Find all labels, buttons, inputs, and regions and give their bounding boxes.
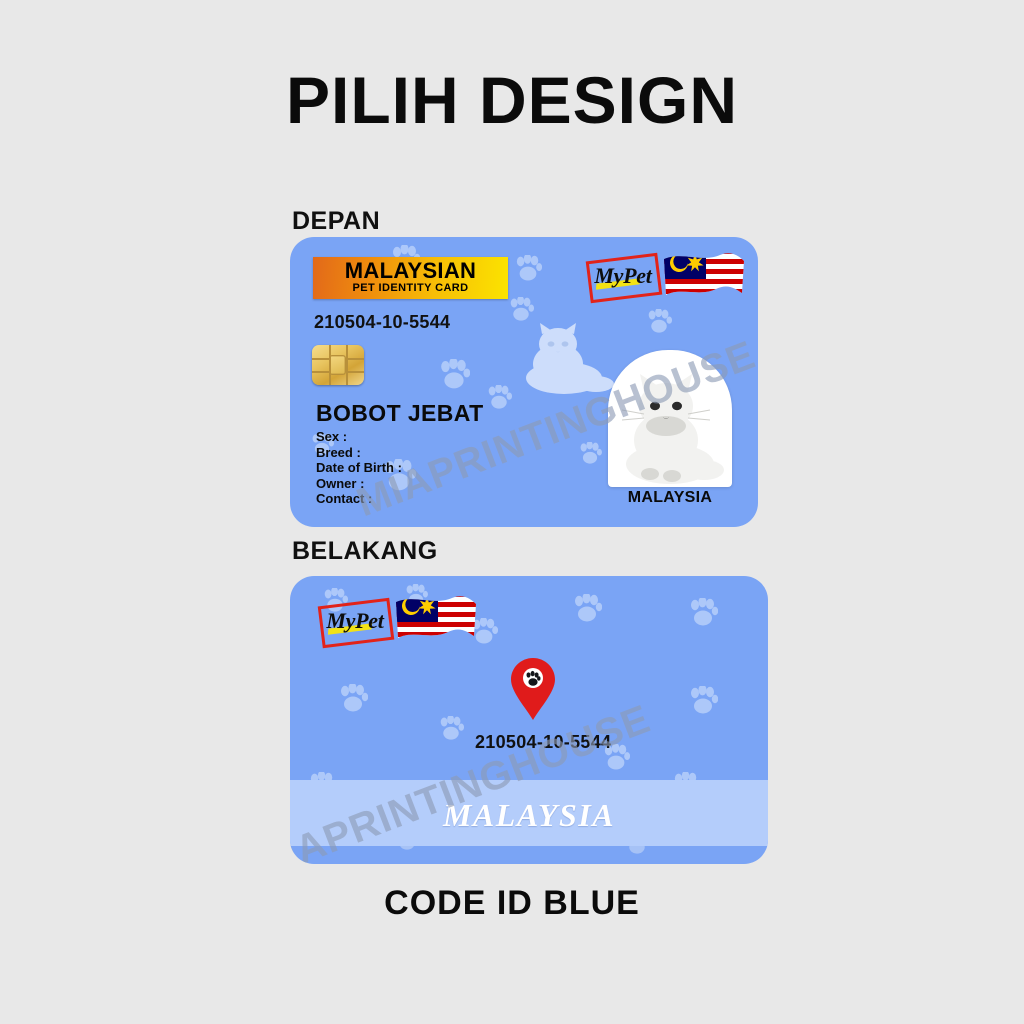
card-front-preview[interactable]: MALAYSIAN PET IDENTITY CARD 210504-10-55…	[290, 237, 758, 527]
mypet-logo-back: MyPet	[312, 598, 396, 644]
back-side-label: BELAKANG	[292, 537, 438, 566]
paw-icon	[438, 716, 464, 740]
persian-cat-watermark-icon	[518, 322, 618, 397]
banner-line-1: MALAYSIAN	[313, 257, 508, 282]
paw-icon	[486, 385, 512, 409]
banner-line-2: PET IDENTITY CARD	[313, 282, 508, 295]
front-side-label: DEPAN	[292, 207, 380, 236]
logo-text: MyPet	[322, 608, 388, 634]
pet-photo	[608, 350, 732, 487]
band-country-text: MALAYSIA	[290, 797, 768, 834]
pet-name: BOBOT JEBAT	[316, 400, 484, 427]
map-pin-paw-icon	[509, 656, 557, 722]
emv-chip-icon	[312, 345, 364, 385]
paw-icon	[508, 297, 534, 321]
paw-icon	[438, 359, 470, 389]
design-preview-page: PILIH DESIGN DEPAN	[0, 0, 1024, 1024]
mypet-logo-front: MyPet	[580, 253, 664, 299]
field-owner: Owner :	[316, 476, 402, 492]
malaysia-flag-icon	[662, 249, 746, 307]
pet-fields-list: Sex : Breed : Date of Birth : Owner : Co…	[316, 429, 402, 507]
card-back-preview[interactable]: MyPet	[290, 576, 768, 864]
page-title: PILIH DESIGN	[0, 62, 1024, 138]
malaysia-flag-icon	[394, 592, 478, 650]
paw-icon	[514, 255, 542, 281]
paw-icon	[688, 598, 718, 626]
front-id-number: 210504-10-5544	[314, 312, 450, 333]
paw-icon	[338, 684, 368, 712]
field-date-of-birth: Date of Birth :	[316, 460, 402, 476]
paw-icon	[646, 309, 672, 333]
paw-icon	[572, 594, 602, 622]
paw-icon	[578, 442, 602, 464]
back-id-number: 210504-10-5544	[475, 732, 611, 753]
design-code-caption: CODE ID BLUE	[0, 884, 1024, 923]
paw-icon	[688, 686, 718, 714]
photo-caption: MALAYSIA	[608, 489, 732, 507]
card-banner-front: MALAYSIAN PET IDENTITY CARD	[313, 257, 508, 299]
field-sex: Sex :	[316, 429, 402, 445]
field-contact: Contact :	[316, 491, 402, 507]
field-breed: Breed :	[316, 445, 402, 461]
logo-text: MyPet	[590, 263, 656, 289]
